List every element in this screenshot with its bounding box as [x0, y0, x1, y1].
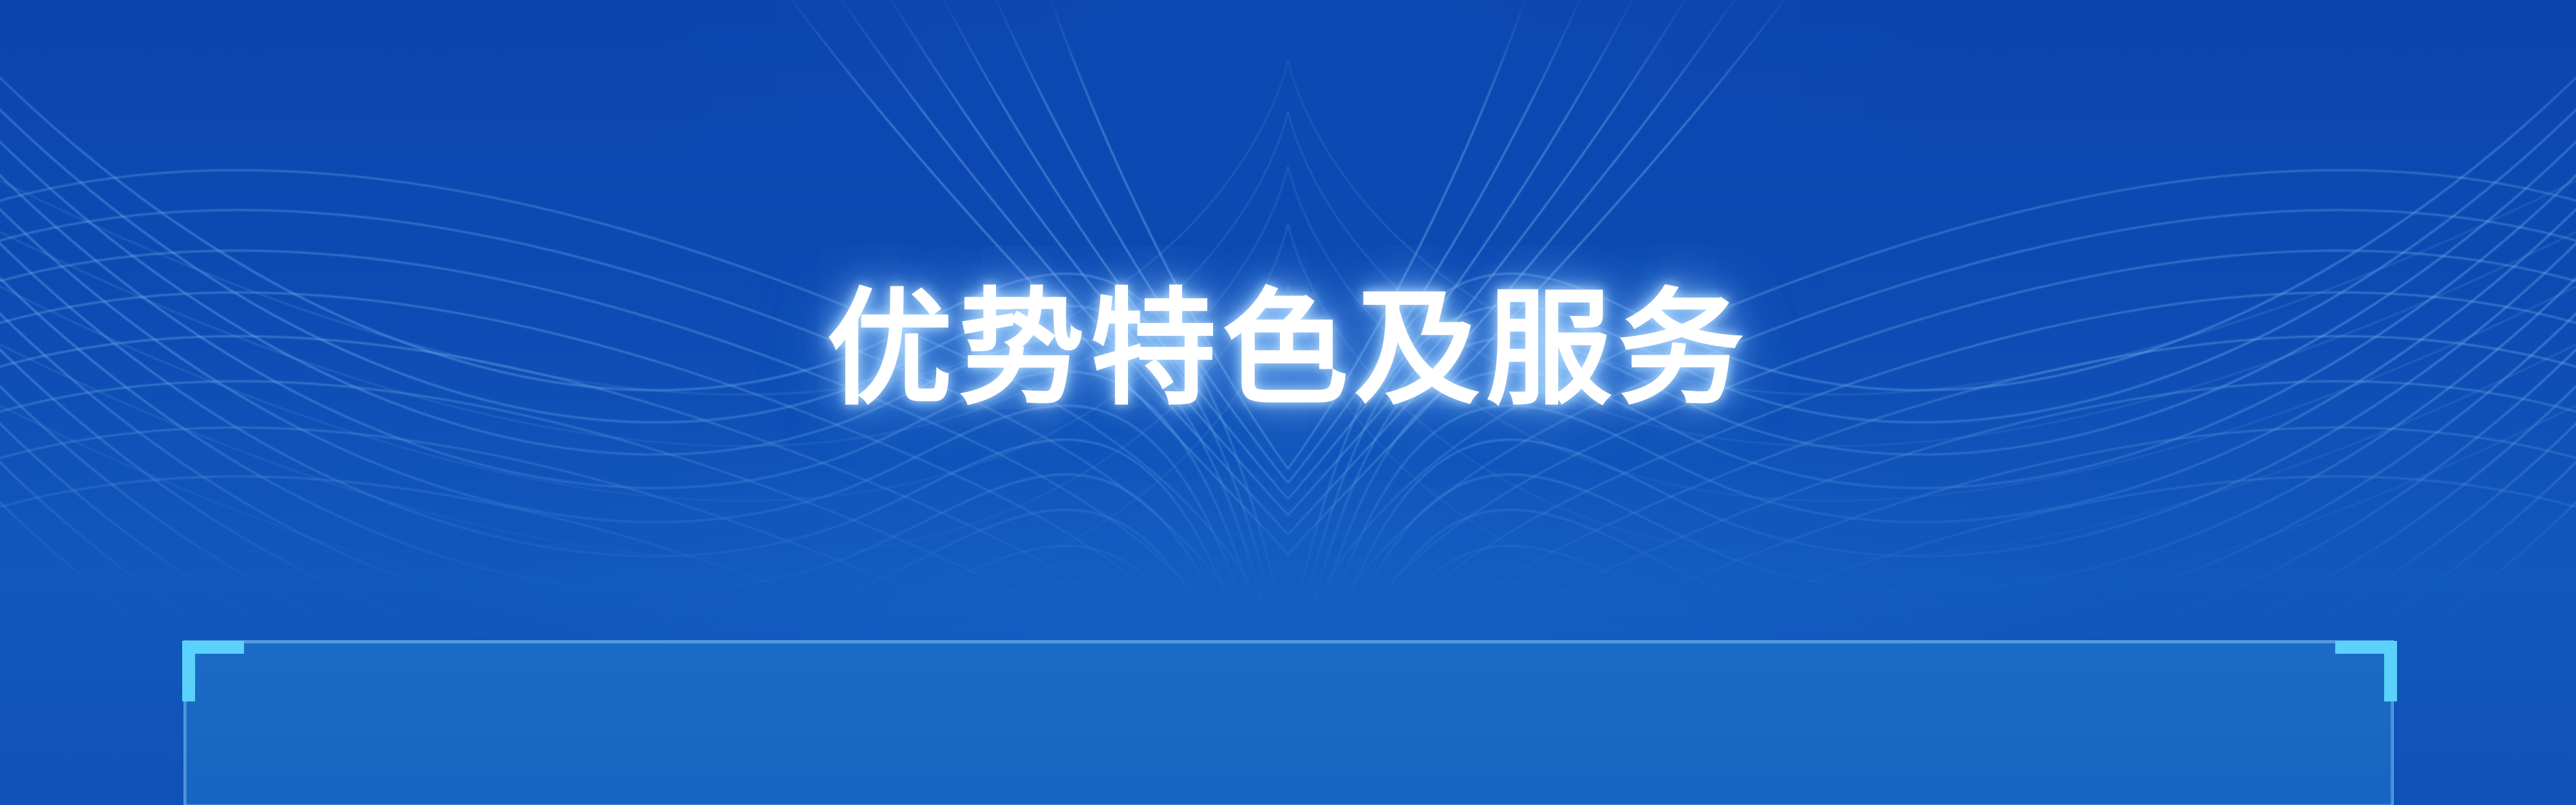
panel-top-border: [183, 640, 2394, 643]
corner-bracket-top-left: [182, 641, 244, 701]
corner-bracket-top-right: [2335, 641, 2397, 701]
content-panel: [183, 640, 2394, 805]
page-title-text: 优势特色及服务: [827, 273, 1750, 427]
bracket-vertical-arm: [182, 641, 195, 701]
bracket-vertical-arm: [2384, 641, 2397, 701]
page-title: 优势特色及服务: [0, 273, 2576, 427]
banner-root: 优势特色及服务: [0, 0, 2576, 805]
